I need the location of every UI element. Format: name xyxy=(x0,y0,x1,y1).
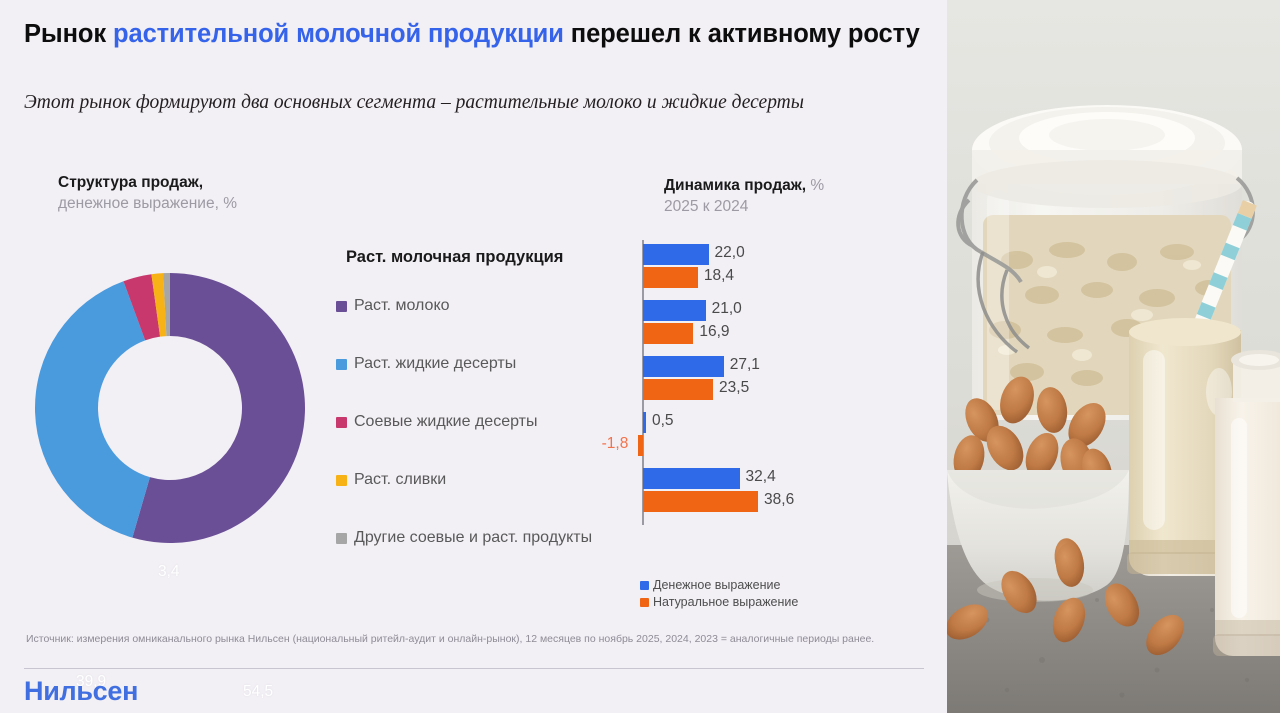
bar-value-natural-1: 16,9 xyxy=(699,323,729,341)
bar-legend-item-natural[interactable]: Натуральное выражение xyxy=(640,595,798,609)
title-accent: растительной молочной продукции xyxy=(113,20,564,48)
legend-swatch-soevye-zhidkie-deserty xyxy=(336,417,347,428)
dynamics-chart-heading: Динамика продаж, % 2025 к 2024 xyxy=(664,176,947,217)
brand-logo-nielsen: Нильсен xyxy=(24,676,138,707)
bar-legend-swatch-money xyxy=(640,581,649,590)
product-photo xyxy=(947,0,1280,713)
legend-item-rast-zhidkie-deserty[interactable]: Раст. жидкие десерты xyxy=(336,354,636,412)
bar-group-1: 21,016,9 xyxy=(600,298,900,352)
bar-legend-swatch-natural xyxy=(640,598,649,607)
bar-value-money-3: 0,5 xyxy=(652,412,674,430)
bar-value-natural-2: 23,5 xyxy=(719,379,749,397)
bar-value-money-2: 27,1 xyxy=(730,356,760,374)
structure-heading-main: Структура продаж, xyxy=(58,174,203,191)
bar-value-natural-0: 18,4 xyxy=(704,267,734,285)
legend-label-drugie-soevye: Другие соевые и раст. продукты xyxy=(354,528,592,548)
bar-money-3[interactable] xyxy=(643,412,646,433)
bar-value-natural-4: 38,6 xyxy=(764,491,794,509)
bar-value-natural-3: -1,8 xyxy=(602,435,629,453)
slide: Рынок растительной молочной продукции пе… xyxy=(0,0,1280,713)
bar-money-4[interactable] xyxy=(643,468,740,489)
structure-chart-heading: Структура продаж, денежное выражение, % xyxy=(58,173,338,214)
legend-swatch-drugie-soevye xyxy=(336,533,347,544)
legend-item-drugie-soevye[interactable]: Другие соевые и раст. продукты xyxy=(336,528,636,586)
donut-svg xyxy=(30,258,310,558)
dynamics-heading-sub: 2025 к 2024 xyxy=(664,198,748,215)
category-legend-header: Раст. молочная продукция xyxy=(336,248,636,296)
bar-natural-0[interactable] xyxy=(643,267,698,288)
legend-label-soevye-zhidkie-deserty: Соевые жидкие десерты xyxy=(354,412,537,432)
legend-label-rast-moloko: Раст. молоко xyxy=(354,296,450,316)
bar-legend-label-natural: Натуральное выражение xyxy=(653,595,798,609)
legend-label-rast-zhidkie-deserty: Раст. жидкие десерты xyxy=(354,354,516,374)
source-note: Источник: измерения омниканального рынка… xyxy=(26,632,916,648)
bar-value-money-4: 32,4 xyxy=(746,468,776,486)
slide-content: Рынок растительной молочной продукции пе… xyxy=(0,0,947,713)
sales-dynamics-bar-chart: 22,018,421,016,927,123,50,5-1,832,438,6 xyxy=(600,240,900,528)
almond-bowl xyxy=(947,372,1129,602)
legend-item-soevye-zhidkie-deserty[interactable]: Соевые жидкие десерты xyxy=(336,412,636,470)
dynamics-heading-unit: % xyxy=(806,177,824,194)
bar-group-2: 27,123,5 xyxy=(600,354,900,408)
donut-label-soevye-zhidkie-deserty: 3,4 xyxy=(158,563,180,581)
bar-value-money-1: 21,0 xyxy=(712,300,742,318)
title-part-2: перешел к активному росту xyxy=(564,20,920,48)
bar-natural-4[interactable] xyxy=(643,491,758,512)
title-part-1: Рынок xyxy=(24,20,113,48)
bar-legend-item-money[interactable]: Денежное выражение xyxy=(640,578,798,592)
legend-item-rast-moloko[interactable]: Раст. молоко xyxy=(336,296,636,354)
structure-heading-sub: денежное выражение, % xyxy=(58,195,237,212)
page-subtitle: Этот рынок формируют два основных сегмен… xyxy=(24,90,914,116)
bar-value-money-0: 22,0 xyxy=(715,244,745,262)
donut-slice-1[interactable] xyxy=(35,281,150,537)
sales-structure-donut-chart: 54,5 39,9 3,4 xyxy=(30,258,310,558)
legend-swatch-rast-zhidkie-deserty xyxy=(336,359,347,370)
bar-money-0[interactable] xyxy=(643,244,709,265)
legend-swatch-rast-slivki xyxy=(336,475,347,486)
category-legend: Раст. молочная продукция Раст. молоко Ра… xyxy=(336,248,636,586)
bar-natural-3[interactable] xyxy=(638,435,643,456)
bar-money-1[interactable] xyxy=(643,300,706,321)
bar-legend-label-money: Денежное выражение xyxy=(653,578,780,592)
dynamics-heading-main: Динамика продаж, xyxy=(664,177,806,194)
legend-item-rast-slivki[interactable]: Раст. сливки xyxy=(336,470,636,528)
bar-chart-legend: Денежное выражение Натуральное выражение xyxy=(640,578,798,612)
footer-divider xyxy=(24,668,924,669)
bar-group-0: 22,018,4 xyxy=(600,242,900,296)
page-title: Рынок растительной молочной продукции пе… xyxy=(24,18,924,51)
bar-group-3: 0,5-1,8 xyxy=(600,410,900,464)
photo-illustration xyxy=(947,0,1280,713)
legend-swatch-rast-moloko xyxy=(336,301,347,312)
legend-label-rast-slivki: Раст. сливки xyxy=(354,470,446,490)
donut-label-rast-moloko: 54,5 xyxy=(243,683,273,701)
bar-natural-2[interactable] xyxy=(643,379,713,400)
bar-natural-1[interactable] xyxy=(643,323,693,344)
bar-money-2[interactable] xyxy=(643,356,724,377)
bar-group-4: 32,438,6 xyxy=(600,466,900,520)
